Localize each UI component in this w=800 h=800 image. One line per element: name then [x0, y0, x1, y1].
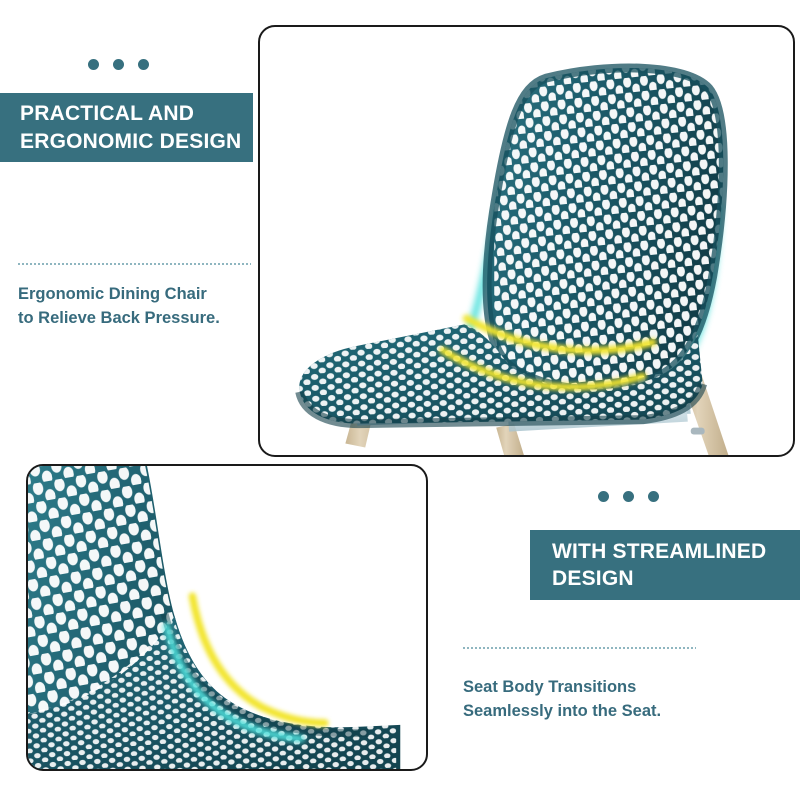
product-image-panel-full-chair: [258, 25, 795, 457]
heading-line-1: PRACTICAL AND: [20, 100, 253, 127]
dotted-divider-bottom: [463, 647, 696, 649]
product-image-panel-seat-detail: [26, 464, 428, 771]
dot-icon: [623, 491, 634, 502]
dot-icon: [113, 59, 124, 70]
heading-band-bottom-right: WITH STREAMLINED DESIGN: [530, 530, 800, 600]
body-line-2: Seamlessly into the Seat.: [463, 700, 661, 724]
dot-icon: [598, 491, 609, 502]
heading-line-2: DESIGN: [552, 565, 800, 592]
heading-line-1: WITH STREAMLINED: [552, 538, 800, 565]
body-copy-top-left: Ergonomic Dining Chair to Relieve Back P…: [18, 283, 220, 331]
dot-icon: [648, 491, 659, 502]
chair-full-illustration: [260, 27, 793, 455]
decorative-dots-bottom: [598, 491, 659, 502]
dotted-divider-top: [18, 263, 251, 265]
dot-icon: [138, 59, 149, 70]
body-line-1: Seat Body Transitions: [463, 676, 661, 700]
body-line-2: to Relieve Back Pressure.: [18, 307, 220, 331]
body-line-1: Ergonomic Dining Chair: [18, 283, 220, 307]
heading-band-top-left: PRACTICAL AND ERGONOMIC DESIGN: [0, 93, 253, 162]
chair-detail-illustration: [28, 466, 426, 769]
heading-line-2: ERGONOMIC DESIGN: [20, 128, 253, 155]
dot-icon: [88, 59, 99, 70]
decorative-dots-top: [88, 59, 149, 70]
infographic-canvas: PRACTICAL AND ERGONOMIC DESIGN Ergonomic…: [0, 0, 800, 800]
body-copy-bottom-right: Seat Body Transitions Seamlessly into th…: [463, 676, 661, 724]
